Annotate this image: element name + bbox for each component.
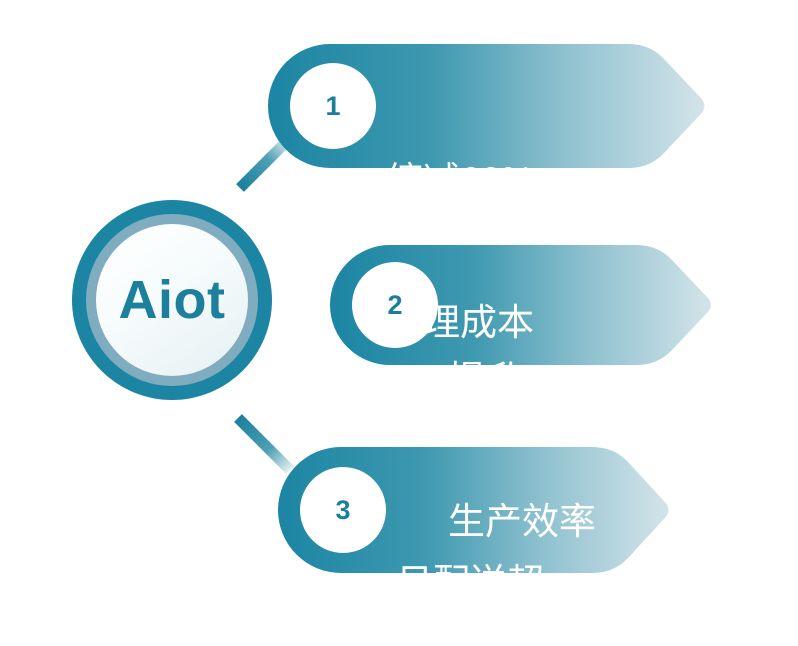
hub-center	[96, 224, 248, 376]
aiot-infographic: Aiot 1 缩减60% 管理成本 2 提升30% 生产效率 3 日配送超 50…	[0, 0, 798, 646]
number-circle-3	[300, 467, 386, 553]
diagram-graphics-layer	[0, 0, 798, 646]
number-circle-2	[352, 262, 438, 348]
connector-hub-to-item-3	[238, 418, 290, 470]
number-circle-1	[290, 63, 376, 149]
connector-hub-to-item-1	[240, 140, 288, 188]
